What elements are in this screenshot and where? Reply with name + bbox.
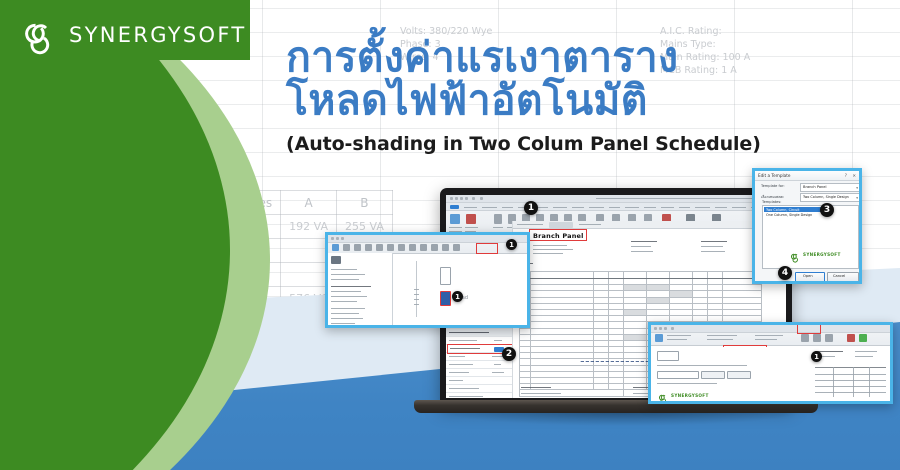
callout-badge-card-b: 1 [811, 351, 822, 362]
promo-banner: Volts: 380/220 Wye Phase: 3 Wires: 4 A.I… [0, 0, 900, 470]
list-item-label: Two Column, Circuit [766, 208, 800, 212]
edit-template-dialog[interactable]: Edit a Template ? ✕ Template for: Branch… [755, 171, 859, 281]
revit-project-browser-screenshot[interactable]: Load 1 1 [325, 232, 530, 328]
dialog-title: Edit a Template [758, 173, 790, 178]
dialog-field-value-0: Branch Panel [803, 185, 827, 189]
ribbon-tab-strip[interactable] [446, 203, 786, 211]
dialog-field-label-0: Template for: [761, 184, 785, 188]
selected-element[interactable] [440, 291, 451, 306]
callout-badge-2: 2 [502, 347, 516, 361]
quick-access-toolbar[interactable] [446, 195, 786, 203]
dialog-field-input-0[interactable]: Branch Panel ▾ [800, 183, 860, 192]
callout-badge-card-a-2: 1 [452, 291, 463, 302]
edit-template-dialog-card[interactable]: Edit a Template ? ✕ Template for: Branch… [752, 168, 862, 284]
brand-logo[interactable]: SYNERGYSOFT [18, 14, 246, 56]
brand-name: SYNERGYSOFT [69, 23, 246, 47]
synergysoft-icon-dialog [789, 248, 801, 260]
chevron-down-icon[interactable]: ▾ [856, 196, 858, 200]
headline-line-2: โหลดไฟฟ้าอัตโนมัติ [286, 79, 886, 122]
headline-block: การตั้งค่าแรเงาตาราง โหลดไฟฟ้าอัตโนมัติ … [286, 36, 886, 155]
list-item[interactable]: One Column, Single Design [766, 213, 812, 217]
brand-name-small: SYNERGYSOFT [671, 393, 709, 398]
open-button[interactable]: Open [795, 272, 825, 282]
brand-name-dialog: SYNERGYSOFT [803, 252, 841, 257]
chevron-down-icon[interactable]: ▾ [856, 186, 858, 190]
property-row[interactable] [446, 377, 512, 385]
properties-group-header [446, 329, 512, 337]
synergysoft-trefoil-icon [18, 14, 60, 56]
callout-badge-dialog-open: 4 [778, 266, 792, 280]
help-icon[interactable]: ? [845, 173, 847, 178]
property-row[interactable] [446, 361, 512, 369]
schedule-header-row [520, 272, 762, 279]
synergysoft-icon-small [657, 389, 669, 401]
col-a: A [281, 191, 337, 215]
dialog-field-value-1: Two Column, Single Design [803, 195, 849, 199]
callout-badge-dialog-select: 3 [820, 203, 834, 217]
paint-tool-icon [466, 214, 476, 224]
project-browser-tree[interactable] [328, 253, 393, 328]
dialog-list-label: Templates: [762, 200, 781, 204]
modify-tool-icon [450, 214, 460, 224]
template-preview[interactable] [811, 347, 890, 403]
view-tab-bar[interactable] [513, 221, 768, 229]
property-row[interactable] [446, 393, 512, 398]
wall-tool-icon [494, 214, 502, 224]
property-row[interactable] [446, 385, 512, 393]
laptop-shadow [442, 412, 802, 426]
cancel-button[interactable]: Cancel [827, 272, 859, 282]
callout-badge-card-a: 1 [506, 239, 517, 250]
panel-title: Branch Panel [533, 232, 584, 240]
template-form[interactable]: SYNERGYSOFT [651, 347, 811, 403]
property-row[interactable] [446, 369, 512, 377]
dialog-title-bar: Edit a Template ? ✕ [755, 171, 859, 181]
callout-badge-1: 1 [524, 201, 538, 215]
template-list[interactable]: Two Column, Circuit One Column, Single D… [762, 205, 859, 269]
col-b: B [337, 191, 393, 215]
headline-subtitle: (Auto-shading in Two Colum Panel Schedul… [286, 133, 886, 155]
headline-line-1: การตั้งค่าแรเงาตาราง [286, 36, 886, 79]
dialog-field-input-1[interactable]: Two Column, Single Design ▾ [800, 193, 860, 202]
panel-schedule-template-screenshot[interactable]: SYNERGYSOFT 1 [648, 322, 893, 404]
list-item-selected[interactable]: Two Column, Circuit [764, 207, 824, 212]
close-icon[interactable]: ✕ [852, 173, 856, 178]
